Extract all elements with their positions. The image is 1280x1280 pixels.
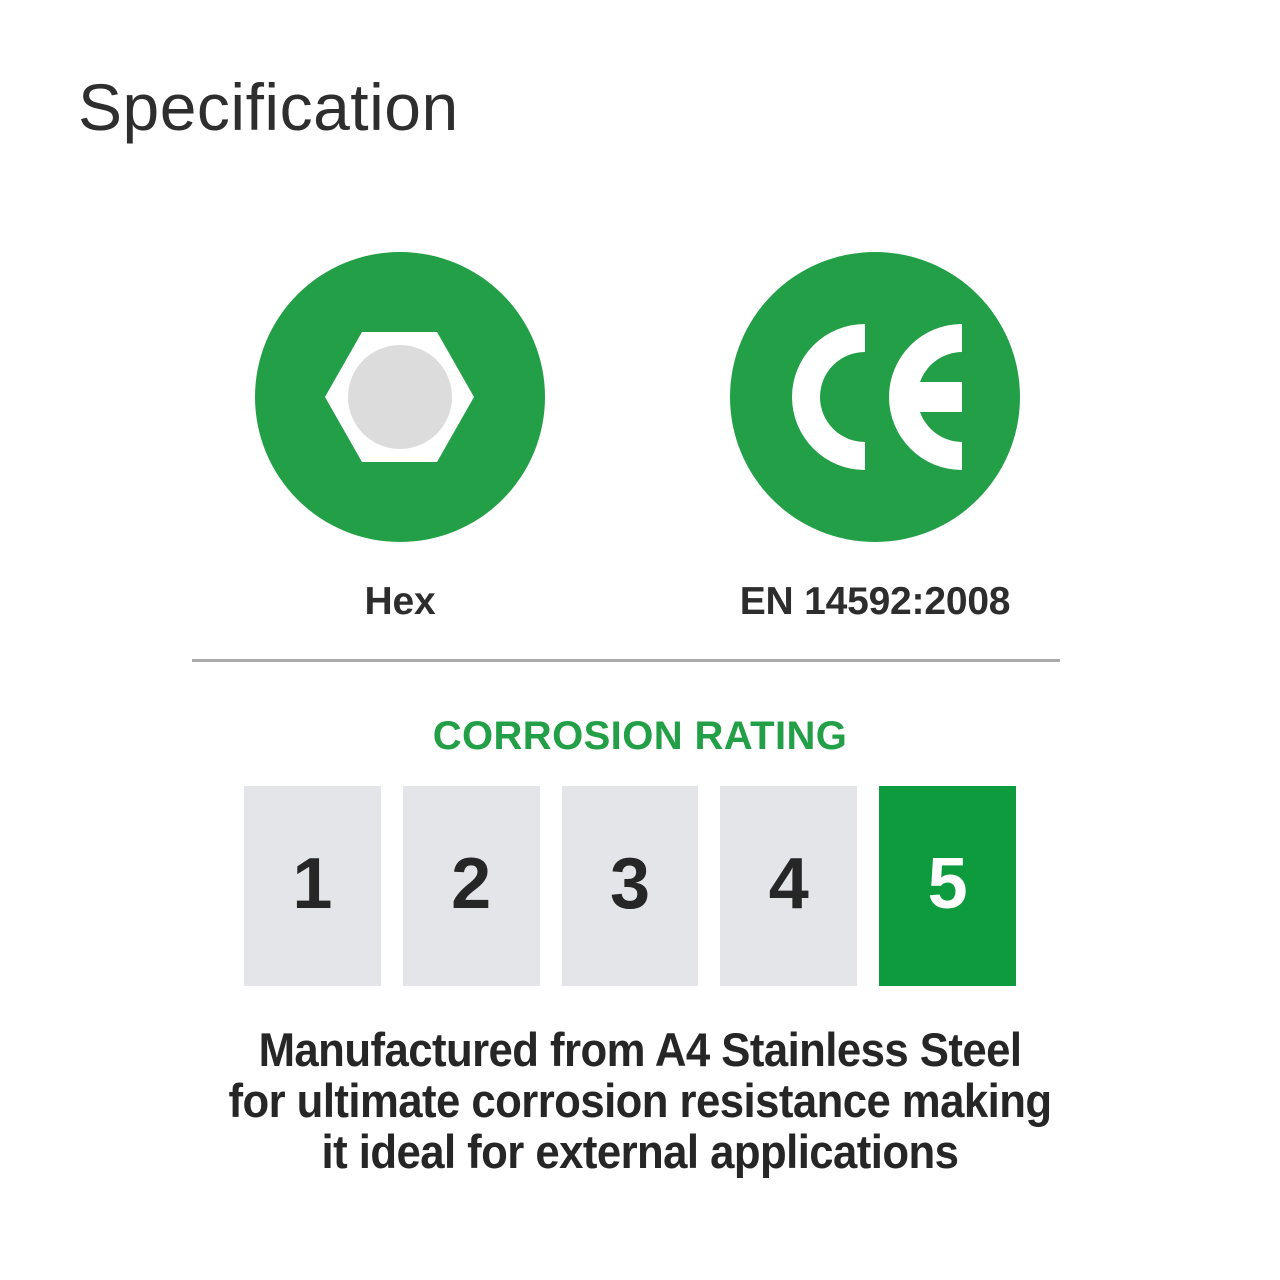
- footer-line-2: for ultimate corrosion resistance making: [45, 1075, 1235, 1126]
- footer-line-1: Manufactured from A4 Stainless Steel: [45, 1024, 1235, 1075]
- corrosion-rating-scale: 1 2 3 4 5: [244, 786, 1016, 986]
- badge-ce-label: EN 14592:2008: [725, 580, 1025, 624]
- hex-bolt-icon: [255, 252, 545, 542]
- badge-hex-drive: Hex: [250, 252, 550, 624]
- rating-block-1[interactable]: 1: [244, 786, 381, 986]
- footer-description: Manufactured from A4 Stainless Steel for…: [45, 1024, 1235, 1177]
- badge-row: Hex EN 14592:2008: [0, 252, 1280, 612]
- corrosion-rating-heading: CORROSION RATING: [0, 714, 1280, 759]
- rating-block-3[interactable]: 3: [562, 786, 699, 986]
- footer-line-3: it ideal for external applications: [45, 1126, 1235, 1177]
- ce-badge-circle: [730, 252, 1020, 542]
- badge-hex-label: Hex: [250, 580, 550, 624]
- section-divider: [192, 659, 1060, 662]
- specification-panel: Specification Hex EN 14592:2008: [0, 0, 1280, 1280]
- badge-ce-mark: EN 14592:2008: [725, 252, 1025, 624]
- ce-mark-icon: [730, 252, 1020, 542]
- page-title: Specification: [78, 74, 459, 140]
- rating-block-4[interactable]: 4: [720, 786, 857, 986]
- hex-badge-circle: [255, 252, 545, 542]
- rating-block-5[interactable]: 5: [879, 786, 1016, 986]
- rating-block-2[interactable]: 2: [403, 786, 540, 986]
